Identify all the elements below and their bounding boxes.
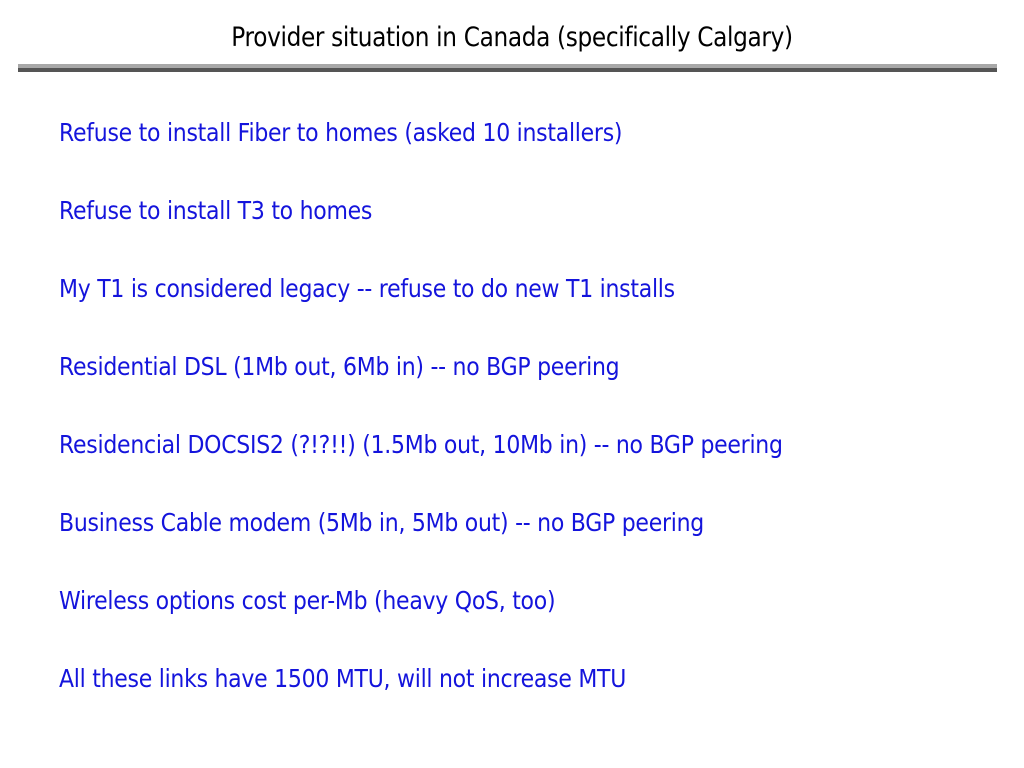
title-separator-rule bbox=[18, 64, 997, 72]
body-line: Residential DSL (1Mb out, 6Mb in) -- no … bbox=[59, 352, 895, 382]
slide-canvas: Provider situation in Canada (specifical… bbox=[0, 0, 1024, 768]
rule-shadow-band bbox=[18, 68, 997, 72]
slide-body-list: Refuse to install Fiber to homes (asked … bbox=[59, 118, 1009, 694]
body-line: My T1 is considered legacy -- refuse to … bbox=[59, 274, 895, 304]
body-line: Refuse to install Fiber to homes (asked … bbox=[59, 118, 895, 148]
body-line: Business Cable modem (5Mb in, 5Mb out) -… bbox=[59, 508, 895, 538]
body-line: All these links have 1500 MTU, will not … bbox=[59, 664, 895, 694]
slide-title: Provider situation in Canada (specifical… bbox=[72, 22, 953, 54]
body-line: Residencial DOCSIS2 (?!?!!) (1.5Mb out, … bbox=[59, 430, 895, 460]
body-line: Refuse to install T3 to homes bbox=[59, 196, 895, 226]
body-line: Wireless options cost per-Mb (heavy QoS,… bbox=[59, 586, 895, 616]
